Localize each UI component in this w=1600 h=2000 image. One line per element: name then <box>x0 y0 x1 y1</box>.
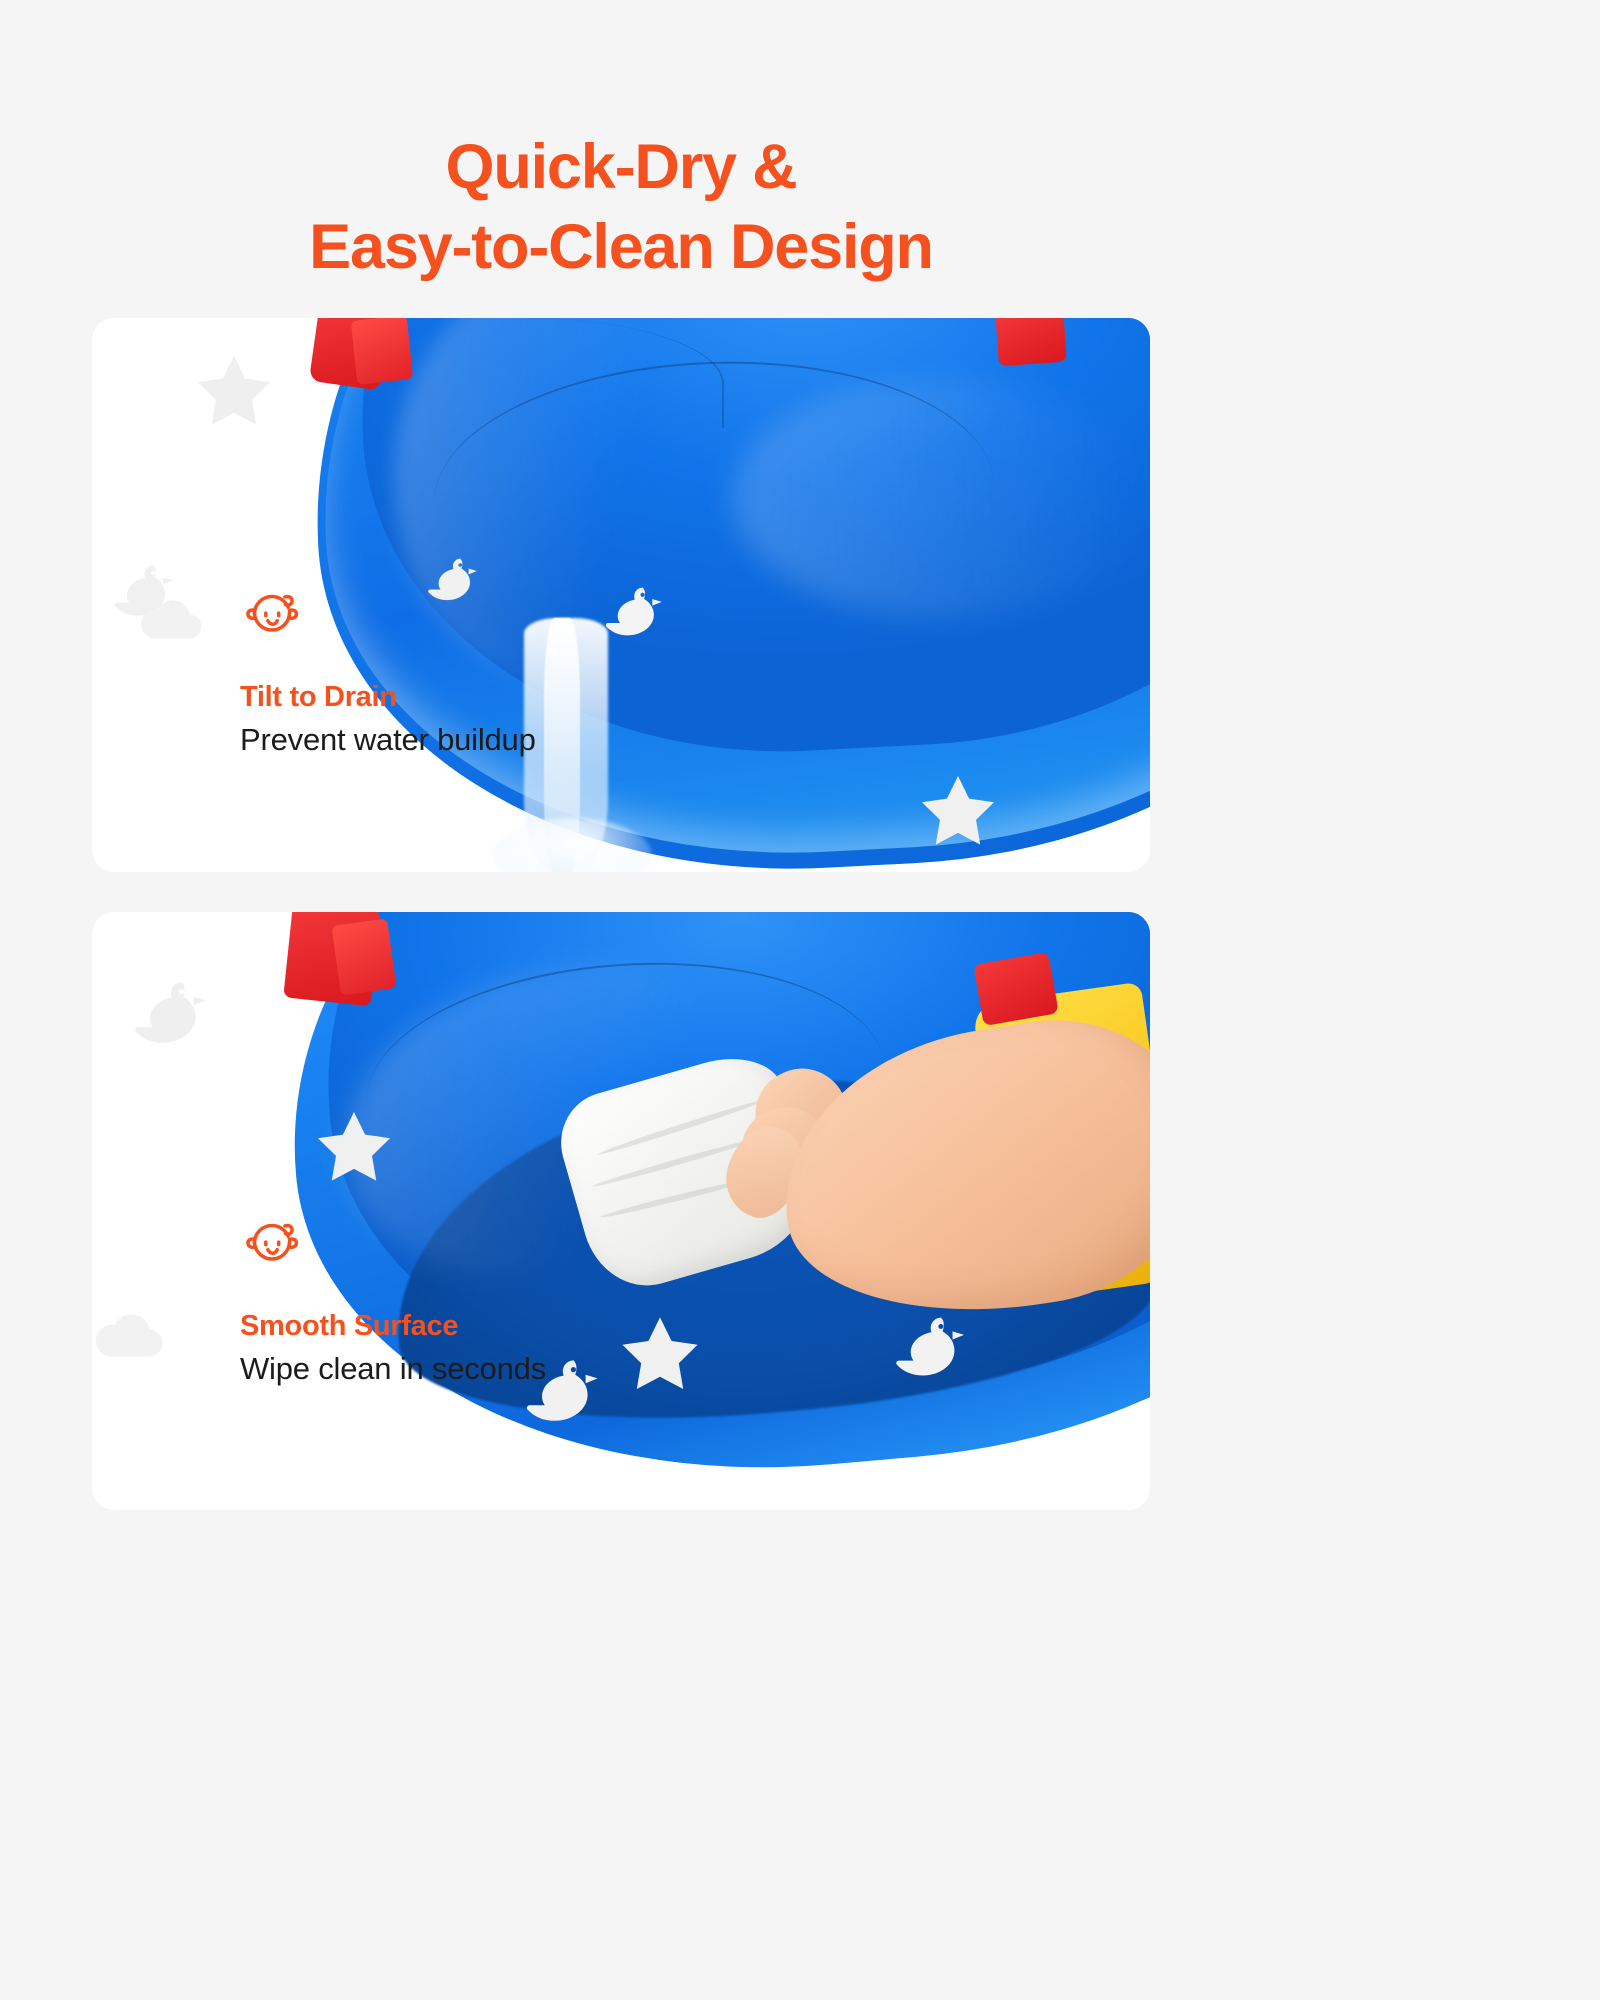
feature-text-block-2: Smooth Surface Wipe clean in seconds <box>240 1212 546 1387</box>
feature-title-2: Smooth Surface <box>240 1310 546 1343</box>
baby-face-icon-2 <box>240 1212 306 1274</box>
page-title: Quick-Dry & Easy-to-Clean Design <box>0 128 1242 287</box>
feature-subtitle-2: Wipe clean in seconds <box>240 1351 546 1387</box>
infographic-page: Quick-Dry & Easy-to-Clean Design <box>0 0 1242 2000</box>
headline-line-2: Easy-to-Clean Design <box>0 208 1242 287</box>
feature-text-block-1: Tilt to Drain Prevent water buildup <box>240 583 536 758</box>
feature-card-smooth-surface: Smooth Surface Wipe clean in seconds <box>92 912 1150 1510</box>
headline-line-1: Quick-Dry & <box>446 132 797 202</box>
feature-subtitle-1: Prevent water buildup <box>240 722 536 758</box>
red-clip-left-inner-2 <box>331 918 396 995</box>
red-clip-right-2 <box>973 952 1059 1026</box>
product-photo-wiping <box>92 912 1150 1510</box>
red-clip-left-inner <box>351 318 413 385</box>
baby-face-icon <box>240 583 306 645</box>
red-clip-right <box>995 318 1067 366</box>
feature-card-tilt-to-drain: Tilt to Drain Prevent water buildup <box>92 318 1150 872</box>
feature-title-1: Tilt to Drain <box>240 681 536 714</box>
